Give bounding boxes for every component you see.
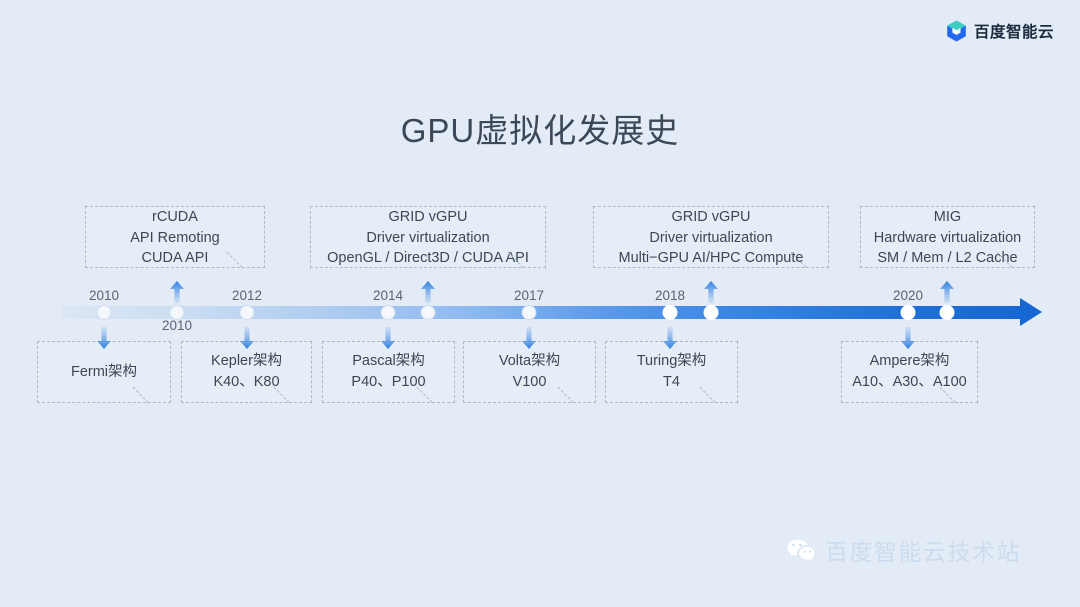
timeline-year-label-1: 2010 xyxy=(89,288,119,303)
timeline-bottom-card-2-line-1: Kepler架构 xyxy=(211,351,282,372)
timeline-top-card-1-line-2: API Remoting xyxy=(130,228,219,249)
connector-arrow-up-4 xyxy=(939,281,955,303)
watermark-text: 百度智能云技术站 xyxy=(825,533,1021,567)
timeline-year-label-6: 2017 xyxy=(514,288,544,303)
timeline-marker-7[interactable] xyxy=(663,305,678,320)
timeline-axis xyxy=(62,306,1024,319)
timeline-marker-4[interactable] xyxy=(381,305,396,320)
timeline-top-card-3: GRID vGPUDriver virtualizationMulti−GPU … xyxy=(593,206,829,268)
timeline-top-card-4-line-2: Hardware virtualization xyxy=(874,228,1021,249)
timeline-bottom-card-6-line-2: A10、A30、A100 xyxy=(852,372,966,393)
timeline-bottom-card-2-line-2: K40、K80 xyxy=(213,372,279,393)
brand-logo: 百度智能云 xyxy=(946,20,1054,42)
timeline-year-label-2: 2010 xyxy=(162,318,192,333)
wechat-icon xyxy=(786,537,816,563)
timeline-top-card-2-line-3: OpenGL / Direct3D / CUDA API xyxy=(327,248,529,269)
timeline-bottom-card-4: Volta架构V100 xyxy=(463,341,596,403)
page-title: GPU虚拟化发展史 xyxy=(0,104,1080,152)
timeline-bottom-card-6: Ampere架构A10、A30、A100 xyxy=(841,341,978,403)
connector-arrow-down-6 xyxy=(900,327,916,349)
timeline-bottom-card-5: Turing架构T4 xyxy=(605,341,738,403)
slide-canvas: 百度智能云 GPU虚拟化发展史 rCUDAAPI RemotingCUDA AP… xyxy=(0,0,1080,607)
connector-arrow-down-5 xyxy=(662,327,678,349)
timeline-top-card-2-line-1: GRID vGPU xyxy=(389,207,468,228)
connector-arrow-up-2 xyxy=(420,281,436,303)
timeline-top-card-1-line-3: CUDA API xyxy=(142,248,209,269)
timeline-bottom-card-1-line-1: Fermi架构 xyxy=(71,362,137,383)
timeline-arrow-right-icon xyxy=(1020,298,1042,326)
timeline-top-card-2: GRID vGPUDriver virtualizationOpenGL / D… xyxy=(310,206,546,268)
timeline-top-card-2-line-2: Driver virtualization xyxy=(366,228,489,249)
connector-arrow-down-4 xyxy=(521,327,537,349)
timeline-top-card-4-line-1: MIG xyxy=(934,207,961,228)
timeline-year-label-3: 2012 xyxy=(232,288,262,303)
timeline-marker-3[interactable] xyxy=(240,305,255,320)
timeline-bottom-card-3-line-1: Pascal架构 xyxy=(352,351,425,372)
timeline-marker-8[interactable] xyxy=(704,305,719,320)
timeline-bottom-card-4-line-1: Volta架构 xyxy=(499,351,560,372)
timeline-year-label-9: 2020 xyxy=(893,288,923,303)
timeline-bottom-card-4-line-2: V100 xyxy=(513,372,547,393)
timeline-marker-10[interactable] xyxy=(940,305,955,320)
timeline-bottom-card-3: Pascal架构P40、P100 xyxy=(322,341,455,403)
brand-name: 百度智能云 xyxy=(974,20,1054,42)
timeline-marker-6[interactable] xyxy=(522,305,537,320)
timeline-top-card-3-line-3: Multi−GPU AI/HPC Compute xyxy=(619,248,804,269)
timeline-marker-9[interactable] xyxy=(901,305,916,320)
timeline-bottom-card-2: Kepler架构K40、K80 xyxy=(181,341,312,403)
connector-arrow-down-2 xyxy=(239,327,255,349)
connector-arrow-down-3 xyxy=(380,327,396,349)
timeline-top-card-3-line-2: Driver virtualization xyxy=(649,228,772,249)
timeline-year-label-7: 2018 xyxy=(655,288,685,303)
timeline-top-card-1-line-1: rCUDA xyxy=(152,207,198,228)
connector-arrow-up-1 xyxy=(169,281,185,303)
timeline-top-card-4: MIGHardware virtualizationSM / Mem / L2 … xyxy=(860,206,1035,268)
timeline-top-card-3-line-1: GRID vGPU xyxy=(672,207,751,228)
timeline-bottom-card-6-line-1: Ampere架构 xyxy=(870,351,950,372)
timeline-bottom-card-5-line-1: Turing架构 xyxy=(637,351,707,372)
baidu-cloud-hexagon-icon xyxy=(946,20,967,42)
watermark: 百度智能云技术站 xyxy=(786,533,1021,567)
timeline-marker-5[interactable] xyxy=(421,305,436,320)
timeline-top-card-4-line-3: SM / Mem / L2 Cache xyxy=(877,248,1017,269)
timeline-marker-1[interactable] xyxy=(97,305,112,320)
timeline-bottom-card-3-line-2: P40、P100 xyxy=(351,372,425,393)
connector-arrow-up-3 xyxy=(703,281,719,303)
timeline-year-label-4: 2014 xyxy=(373,288,403,303)
timeline-bottom-card-1: Fermi架构 xyxy=(37,341,171,403)
timeline-top-card-1: rCUDAAPI RemotingCUDA API xyxy=(85,206,265,268)
timeline-bottom-card-5-line-2: T4 xyxy=(663,372,680,393)
connector-arrow-down-1 xyxy=(96,327,112,349)
